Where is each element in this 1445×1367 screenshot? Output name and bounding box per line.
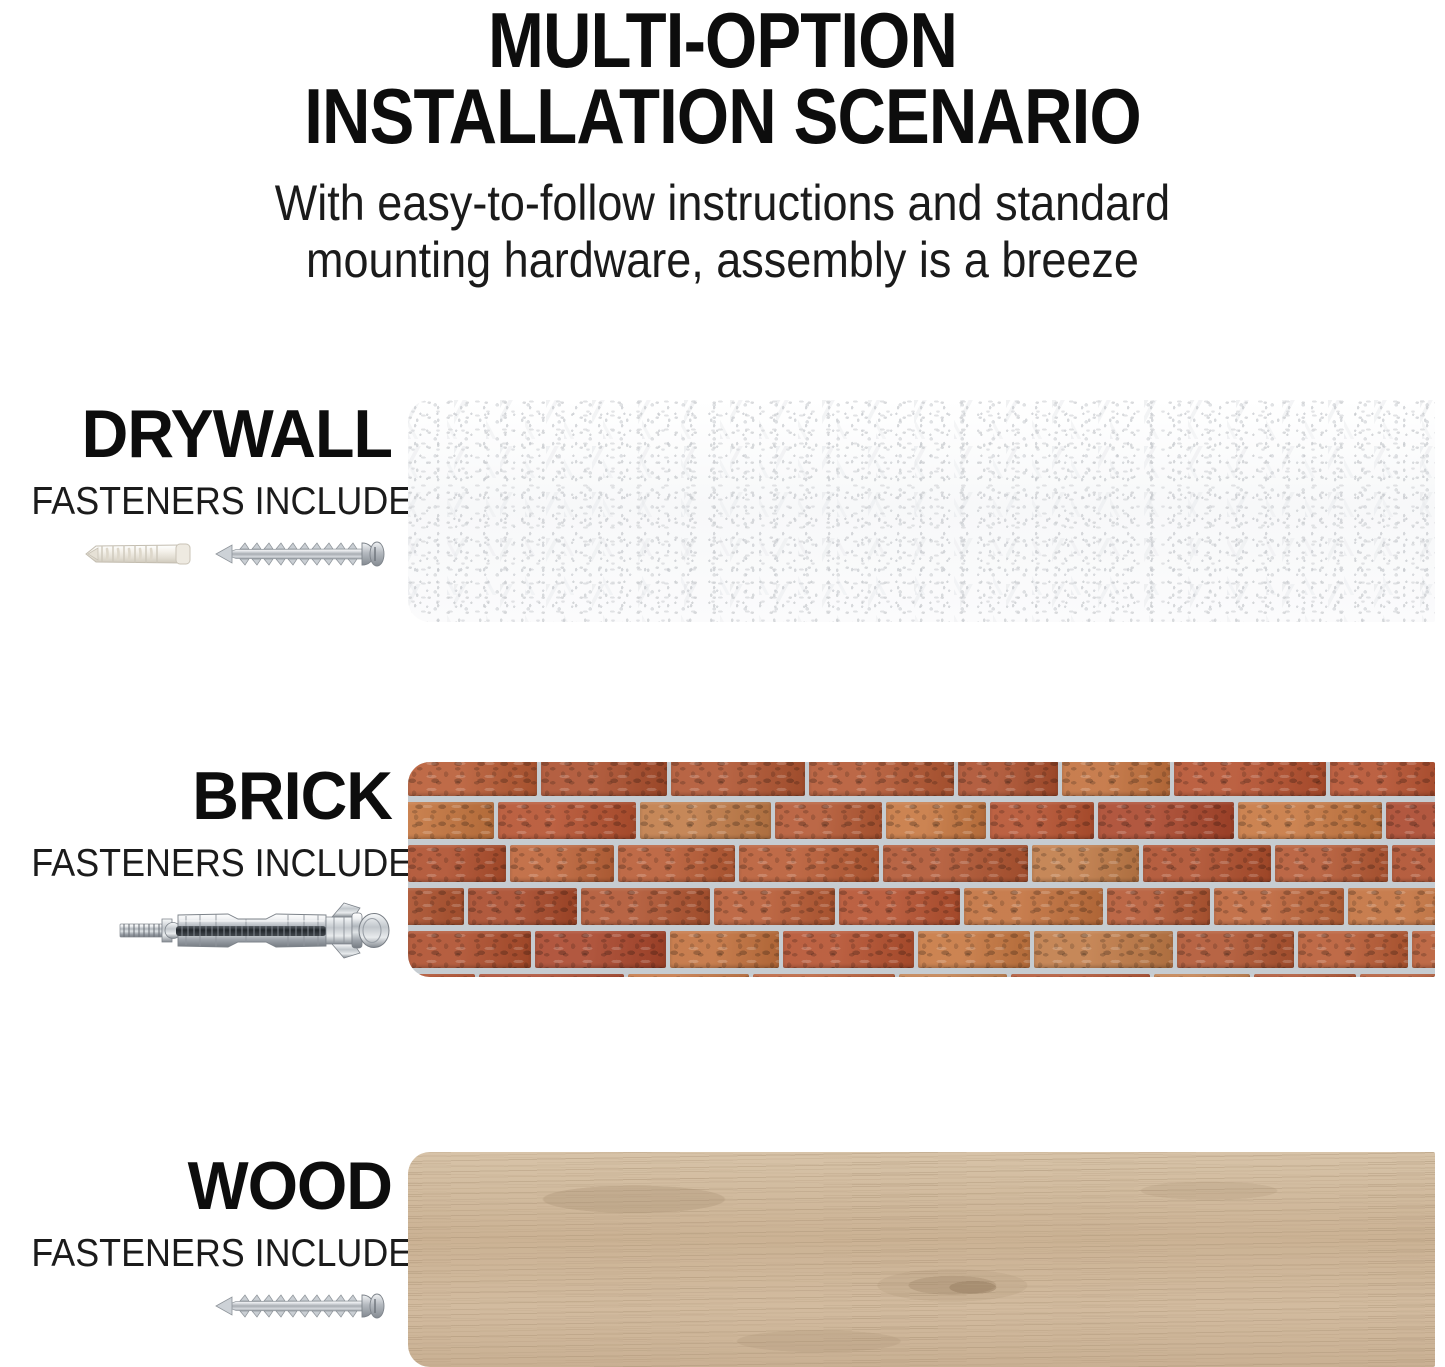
- brick-tile: [1348, 888, 1435, 925]
- header: MULTI-OPTION INSTALLATION SCENARIO With …: [0, 0, 1445, 289]
- screw-icon: [210, 537, 392, 571]
- brick-info-column: BRICK FASTENERS INCLUDED: [0, 762, 392, 977]
- molly-bolt-anchor-icon: [116, 899, 392, 961]
- wood-hardware-group: [0, 1289, 392, 1323]
- brick-tile: [535, 931, 666, 968]
- brick-tile: [1360, 974, 1435, 977]
- brick-tile: [958, 762, 1058, 796]
- brick-tile: [1143, 845, 1271, 882]
- brick-tile: [408, 974, 475, 977]
- brick-tile: [1275, 845, 1388, 882]
- brick-tile: [1298, 931, 1408, 968]
- brick-tile: [408, 845, 506, 882]
- brick-tile: [990, 802, 1094, 839]
- screw-icon: [210, 1289, 392, 1323]
- brick-pattern: [408, 762, 1435, 977]
- brick-tile: [1032, 845, 1139, 882]
- brick-tile: [753, 974, 895, 977]
- surface-panel-drywall: [408, 400, 1435, 622]
- brick-tile: [408, 888, 464, 925]
- fasteners-included-label-brick: FASTENERS INCLUDED: [31, 844, 392, 883]
- drywall-hardware-group: [0, 537, 392, 571]
- brick-tile: [1177, 931, 1294, 968]
- brick-tile: [628, 974, 749, 977]
- brick-tile: [479, 974, 624, 977]
- brick-tile: [1330, 762, 1435, 796]
- title-line-1: MULTI-OPTION: [101, 2, 1344, 78]
- brick-tile: [498, 802, 636, 839]
- brick-tile: [671, 762, 805, 796]
- brick-tile: [1238, 802, 1382, 839]
- subtitle-line-2: mounting hardware, assembly is a breeze: [72, 232, 1373, 289]
- brick-tile: [809, 762, 954, 796]
- brick-tile: [1107, 888, 1210, 925]
- brick-tile: [1412, 931, 1435, 968]
- material-label-wood: WOOD: [20, 1152, 392, 1220]
- material-label-brick: BRICK: [20, 762, 392, 830]
- brick-tile: [1214, 888, 1344, 925]
- brick-tile: [775, 802, 882, 839]
- brick-tile: [739, 845, 879, 882]
- brick-tile: [1392, 845, 1435, 882]
- fasteners-included-label-wood: FASTENERS INCLUDED: [31, 1234, 392, 1273]
- wall-anchor-plug-icon: [78, 537, 196, 571]
- material-label-drywall: DRYWALL: [20, 400, 392, 468]
- page-title: MULTI-OPTION INSTALLATION SCENARIO: [101, 2, 1344, 155]
- wood-info-column: WOOD FASTENERS INCLUDED: [0, 1152, 392, 1367]
- brick-tile: [510, 845, 614, 882]
- brick-tile: [581, 888, 710, 925]
- brick-tile: [408, 931, 531, 968]
- brick-tile: [618, 845, 735, 882]
- brick-tile: [1386, 802, 1435, 839]
- brick-tile: [541, 762, 667, 796]
- brick-tile: [1254, 974, 1356, 977]
- brick-tile: [408, 802, 494, 839]
- brick-tile: [1011, 974, 1150, 977]
- title-line-2: INSTALLATION SCENARIO: [101, 78, 1344, 154]
- brick-tile: [964, 888, 1103, 925]
- brick-tile: [1098, 802, 1234, 839]
- fasteners-included-label-drywall: FASTENERS INCLUDED: [31, 482, 392, 521]
- brick-tile: [883, 845, 1028, 882]
- install-row-wood: WOOD FASTENERS INCLUDED: [0, 1152, 1445, 1367]
- brick-tile: [886, 802, 986, 839]
- brick-tile: [1174, 762, 1326, 796]
- brick-tile: [839, 888, 960, 925]
- brick-tile: [783, 931, 914, 968]
- brick-tile: [468, 888, 577, 925]
- brick-tile: [714, 888, 835, 925]
- brick-tile: [408, 762, 537, 796]
- brick-tile: [640, 802, 771, 839]
- brick-hardware-group: [0, 899, 392, 961]
- surface-panel-brick: [408, 762, 1435, 977]
- drywall-info-column: DRYWALL FASTENERS INCLUDED: [0, 400, 392, 622]
- brick-tile: [670, 931, 779, 968]
- brick-tile: [899, 974, 1007, 977]
- brick-tile: [1154, 974, 1250, 977]
- install-row-drywall: DRYWALL FASTENERS INCLUDED: [0, 400, 1445, 622]
- brick-tile: [1062, 762, 1170, 796]
- brick-tile: [918, 931, 1030, 968]
- subtitle-line-1: With easy-to-follow instructions and sta…: [72, 175, 1373, 232]
- surface-panel-wood: [408, 1152, 1435, 1367]
- install-row-brick: BRICK FASTENERS INCLUDED: [0, 762, 1445, 977]
- page-subtitle: With easy-to-follow instructions and sta…: [72, 175, 1373, 289]
- brick-tile: [1034, 931, 1173, 968]
